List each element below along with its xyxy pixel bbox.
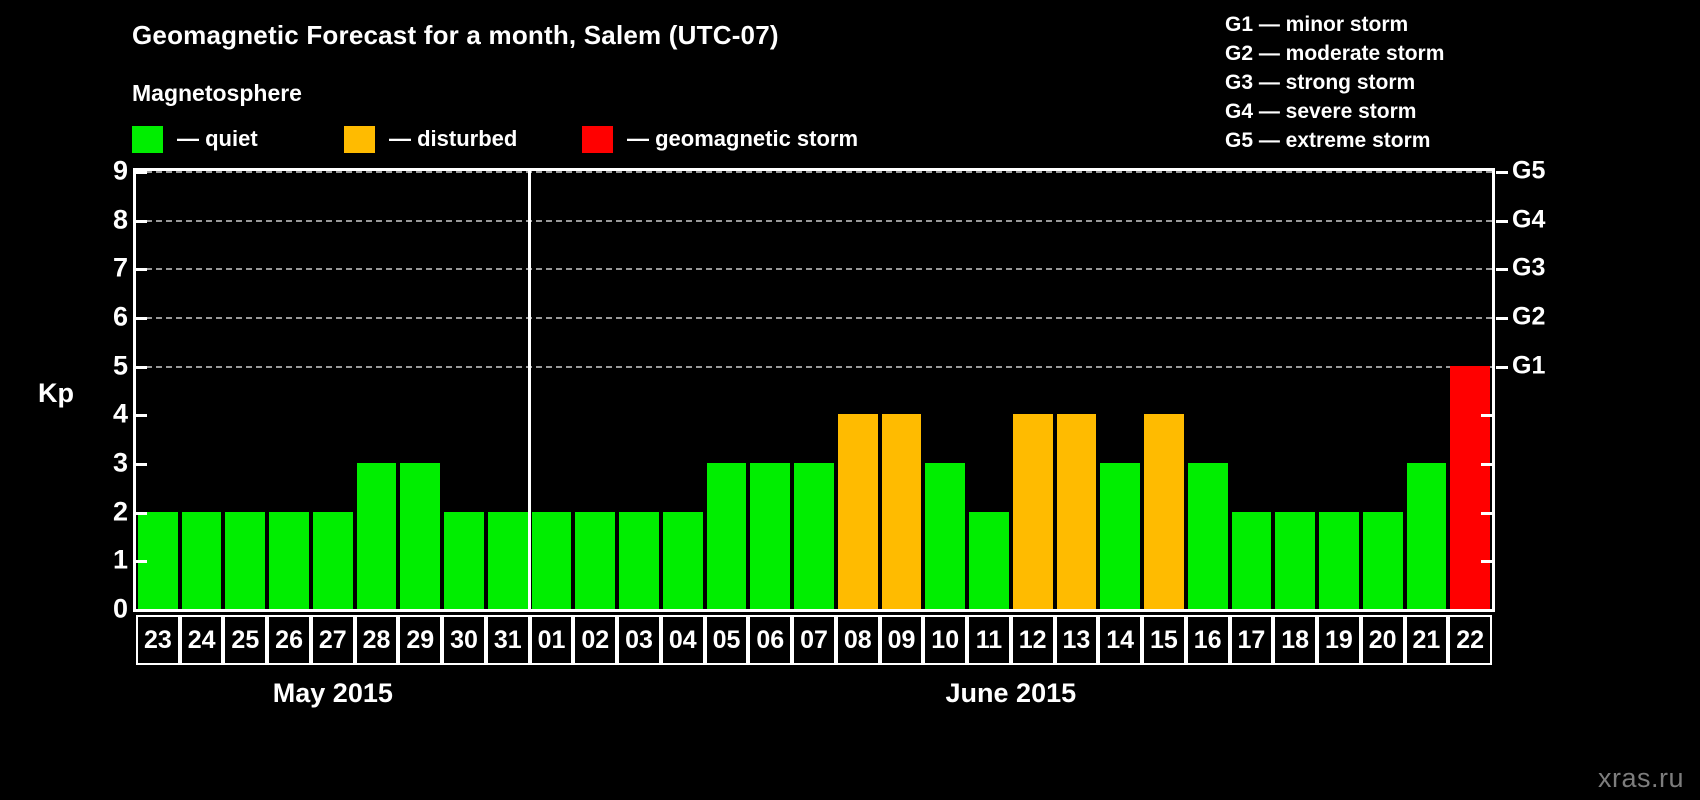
bar-june-08[interactable] xyxy=(838,414,878,609)
g-axis-label-G3: G3 xyxy=(1512,254,1545,283)
bar-june-11[interactable] xyxy=(969,512,1009,609)
day-label-may-27[interactable]: 27 xyxy=(311,615,355,665)
y-tick-label-2: 2 xyxy=(88,496,128,527)
day-label-june-12[interactable]: 12 xyxy=(1011,615,1055,665)
day-label-june-05[interactable]: 05 xyxy=(705,615,749,665)
g-axis-label-G1: G1 xyxy=(1512,351,1545,380)
day-label-june-21[interactable]: 21 xyxy=(1405,615,1449,665)
day-label-may-24[interactable]: 24 xyxy=(180,615,224,665)
day-label-june-17[interactable]: 17 xyxy=(1230,615,1274,665)
g-axis-minor-tick-4 xyxy=(1481,414,1493,417)
bar-june-22[interactable] xyxy=(1450,366,1490,609)
bar-june-16[interactable] xyxy=(1188,463,1228,609)
legend-label-disturbed: — disturbed xyxy=(389,126,517,152)
bar-june-17[interactable] xyxy=(1232,512,1272,609)
y-tick-label-6: 6 xyxy=(88,302,128,333)
y-tick-label-8: 8 xyxy=(88,204,128,235)
y-tick-label-9: 9 xyxy=(88,156,128,187)
gscale-line-1: G1 — minor storm xyxy=(1225,10,1444,39)
y-tick-mark-8 xyxy=(136,220,147,223)
bar-june-05[interactable] xyxy=(707,463,747,609)
y-tick-mark-5 xyxy=(136,366,147,369)
legend-item-disturbed: — disturbed xyxy=(344,124,517,154)
y-tick-mark-3 xyxy=(136,463,147,466)
y-tick-mark-1 xyxy=(136,560,147,563)
day-label-may-23[interactable]: 23 xyxy=(136,615,180,665)
legend-label-quiet: — quiet xyxy=(177,126,258,152)
day-label-june-19[interactable]: 19 xyxy=(1317,615,1361,665)
day-label-may-30[interactable]: 30 xyxy=(442,615,486,665)
g-axis-tick-G3 xyxy=(1496,268,1508,271)
legend-item-quiet: — quiet xyxy=(132,124,258,154)
bar-june-19[interactable] xyxy=(1319,512,1359,609)
y-tick-mark-2 xyxy=(136,512,147,515)
bar-may-27[interactable] xyxy=(313,512,353,609)
bar-may-25[interactable] xyxy=(225,512,265,609)
y-axis-caption: Kp xyxy=(38,378,74,409)
g-scale-legend: G1 — minor stormG2 — moderate stormG3 — … xyxy=(1225,10,1444,155)
day-label-may-26[interactable]: 26 xyxy=(267,615,311,665)
y-tick-mark-9 xyxy=(136,171,147,174)
g-axis-tick-G1 xyxy=(1496,366,1508,369)
bar-may-28[interactable] xyxy=(357,463,397,609)
bar-june-10[interactable] xyxy=(925,463,965,609)
gscale-line-5: G5 — extreme storm xyxy=(1225,126,1444,155)
day-label-june-07[interactable]: 07 xyxy=(792,615,836,665)
bar-series xyxy=(136,171,1492,609)
day-label-may-28[interactable]: 28 xyxy=(355,615,399,665)
day-labels-row: 2324252627282930310102030405060708091011… xyxy=(133,615,1495,665)
g-axis-tick-G2 xyxy=(1496,317,1508,320)
legend-swatch-storm-icon xyxy=(582,126,613,153)
gscale-line-2: G2 — moderate storm xyxy=(1225,39,1444,68)
day-label-june-03[interactable]: 03 xyxy=(617,615,661,665)
bar-may-29[interactable] xyxy=(400,463,440,609)
day-label-june-09[interactable]: 09 xyxy=(880,615,924,665)
g-axis-minor-tick-2 xyxy=(1481,512,1493,515)
bar-june-21[interactable] xyxy=(1407,463,1447,609)
y-tick-label-4: 4 xyxy=(88,399,128,430)
day-label-june-14[interactable]: 14 xyxy=(1098,615,1142,665)
bar-june-15[interactable] xyxy=(1144,414,1184,609)
day-label-june-15[interactable]: 15 xyxy=(1142,615,1186,665)
legend-swatch-disturbed-icon xyxy=(344,126,375,153)
day-label-june-04[interactable]: 04 xyxy=(661,615,705,665)
month-caption-may: May 2015 xyxy=(273,678,393,709)
day-label-june-08[interactable]: 08 xyxy=(836,615,880,665)
g-axis-label-G5: G5 xyxy=(1512,157,1545,186)
g-axis-minor-tick-3 xyxy=(1481,463,1493,466)
legend-swatch-quiet-icon xyxy=(132,126,163,153)
y-tick-label-3: 3 xyxy=(88,448,128,479)
gscale-line-4: G4 — severe storm xyxy=(1225,97,1444,126)
bar-june-13[interactable] xyxy=(1057,414,1097,609)
bar-june-03[interactable] xyxy=(619,512,659,609)
plot-area xyxy=(133,168,1495,612)
bar-june-18[interactable] xyxy=(1275,512,1315,609)
day-label-may-29[interactable]: 29 xyxy=(398,615,442,665)
day-label-june-20[interactable]: 20 xyxy=(1361,615,1405,665)
geomagnetic-forecast-chart: Geomagnetic Forecast for a month, Salem … xyxy=(0,0,1700,800)
day-label-june-22[interactable]: 22 xyxy=(1448,615,1492,665)
day-label-may-31[interactable]: 31 xyxy=(486,615,530,665)
bar-june-02[interactable] xyxy=(575,512,615,609)
y-tick-label-0: 0 xyxy=(88,594,128,625)
gscale-line-3: G3 — strong storm xyxy=(1225,68,1444,97)
watermark: xras.ru xyxy=(1598,763,1684,794)
y-tick-label-7: 7 xyxy=(88,253,128,284)
day-label-june-10[interactable]: 10 xyxy=(923,615,967,665)
day-label-june-13[interactable]: 13 xyxy=(1055,615,1099,665)
g-axis-minor-tick-1 xyxy=(1481,560,1493,563)
day-label-june-18[interactable]: 18 xyxy=(1273,615,1317,665)
bar-june-09[interactable] xyxy=(882,414,922,609)
bar-june-12[interactable] xyxy=(1013,414,1053,609)
day-label-june-16[interactable]: 16 xyxy=(1186,615,1230,665)
bar-june-14[interactable] xyxy=(1100,463,1140,609)
bar-june-01[interactable] xyxy=(532,512,572,609)
y-tick-mark-4 xyxy=(136,414,147,417)
day-label-may-25[interactable]: 25 xyxy=(223,615,267,665)
day-label-june-01[interactable]: 01 xyxy=(530,615,574,665)
g-axis-label-G4: G4 xyxy=(1512,205,1545,234)
bar-june-07[interactable] xyxy=(794,463,834,609)
day-label-june-06[interactable]: 06 xyxy=(748,615,792,665)
bar-may-26[interactable] xyxy=(269,512,309,609)
bar-june-20[interactable] xyxy=(1363,512,1403,609)
g-axis-tick-G4 xyxy=(1496,220,1508,223)
y-tick-mark-6 xyxy=(136,317,147,320)
month-caption-june: June 2015 xyxy=(946,678,1077,709)
page-title: Geomagnetic Forecast for a month, Salem … xyxy=(132,20,779,51)
legend-label-storm: — geomagnetic storm xyxy=(627,126,858,152)
day-label-june-02[interactable]: 02 xyxy=(573,615,617,665)
g-axis-tick-G5 xyxy=(1496,171,1508,174)
legend-item-storm: — geomagnetic storm xyxy=(582,124,858,154)
bar-may-24[interactable] xyxy=(182,512,222,609)
legend-heading: Magnetosphere xyxy=(132,80,302,107)
bar-may-31[interactable] xyxy=(488,512,528,609)
y-tick-label-5: 5 xyxy=(88,350,128,381)
bar-june-06[interactable] xyxy=(750,463,790,609)
day-label-june-11[interactable]: 11 xyxy=(967,615,1011,665)
y-tick-label-1: 1 xyxy=(88,545,128,576)
y-tick-mark-7 xyxy=(136,268,147,271)
bar-june-04[interactable] xyxy=(663,512,703,609)
bar-may-30[interactable] xyxy=(444,512,484,609)
g-axis-label-G2: G2 xyxy=(1512,303,1545,332)
